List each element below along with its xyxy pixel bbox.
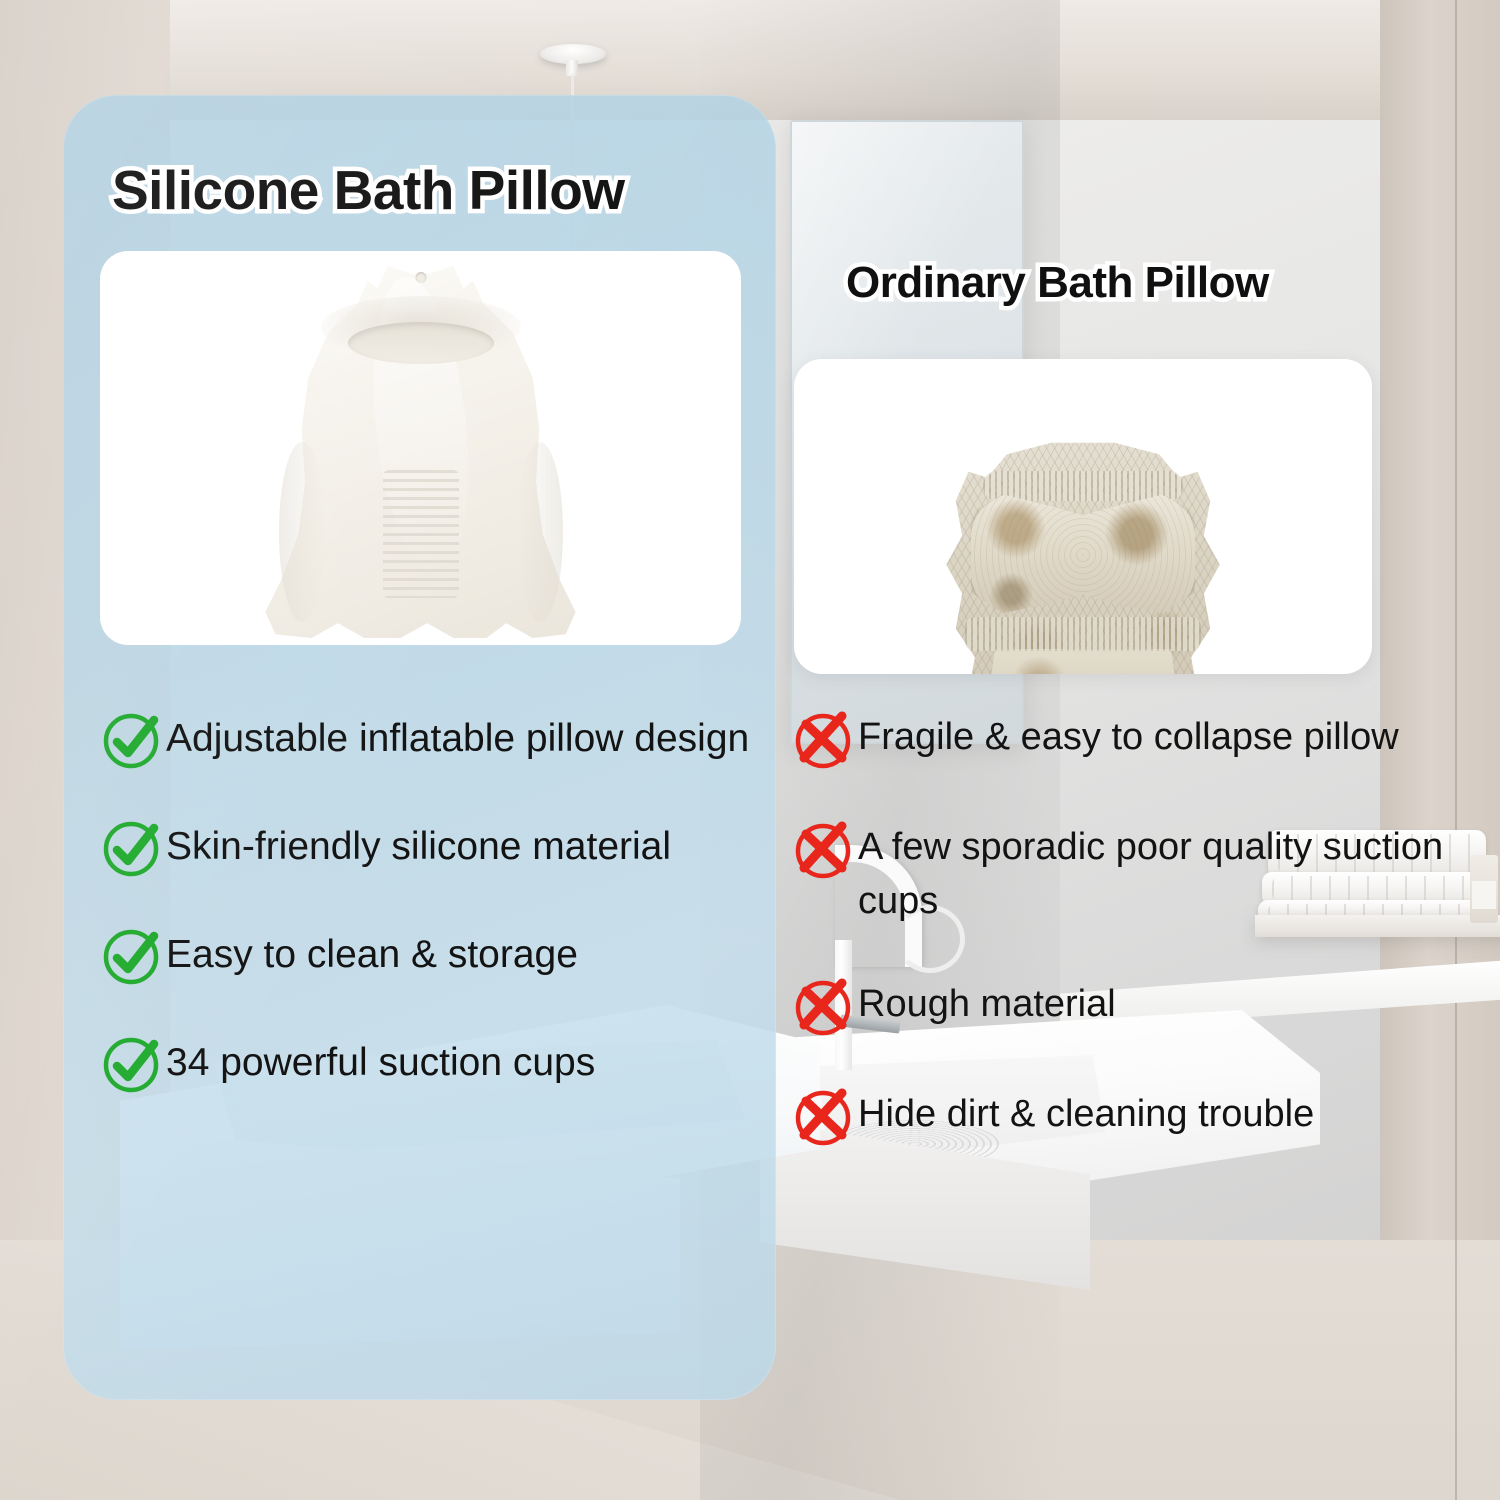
check-circle-icon — [100, 1034, 166, 1096]
list-item-label: Skin-friendly silicone material — [166, 818, 671, 874]
silicone-pillow-head-recess — [348, 322, 494, 364]
silicone-pillow-ribbed-strip — [383, 470, 459, 598]
cross-circle-icon — [792, 710, 858, 772]
list-item-label: Adjustable inflatable pillow design — [166, 710, 749, 766]
list-item: Adjustable inflatable pillow design — [100, 710, 780, 772]
list-item-label: Hide dirt & cleaning trouble — [858, 1087, 1314, 1142]
list-item: Hide dirt & cleaning trouble — [792, 1087, 1492, 1149]
check-circle-icon — [100, 710, 166, 772]
dirty-pillow-lower-band — [965, 617, 1201, 651]
list-item: Easy to clean & storage — [100, 926, 780, 988]
check-circle-icon — [100, 818, 166, 880]
right-column-title: Ordinary Bath Pillow — [846, 258, 1269, 308]
left-column-title: Silicone Bath Pillow — [112, 158, 625, 222]
list-item-label: Fragile & easy to collapse pillow — [858, 710, 1399, 765]
list-item: Skin-friendly silicone material — [100, 818, 780, 880]
silicone-pillow-hang-hole — [415, 272, 426, 283]
dirty-pillow-lower-section — [983, 649, 1183, 674]
list-item: Fragile & easy to collapse pillow — [792, 710, 1492, 772]
dirty-pillow-top-band — [983, 471, 1183, 501]
ordinary-pillow-image-card — [794, 359, 1372, 674]
list-item: A few sporadic poor quality suction cups — [792, 820, 1492, 929]
silicone-feature-list: Adjustable inflatable pillow design Skin… — [100, 710, 780, 1142]
list-item: 34 powerful suction cups — [100, 1034, 780, 1096]
silicone-pillow-illustration — [221, 252, 621, 644]
check-circle-icon — [100, 926, 166, 988]
silicone-pillow-left-shade — [279, 442, 325, 622]
list-item: Rough material — [792, 977, 1492, 1039]
list-item-label: Easy to clean & storage — [166, 926, 578, 982]
dirty-pillow-illustration — [918, 437, 1248, 674]
cross-circle-icon — [792, 1087, 858, 1149]
list-item-label: 34 powerful suction cups — [166, 1034, 595, 1090]
ordinary-drawback-list: Fragile & easy to collapse pillow A few … — [792, 710, 1492, 1197]
list-item-label: Rough material — [858, 977, 1116, 1032]
comparison-infographic: Silicone Bath Pillow Ordinary Bath Pillo… — [0, 0, 1500, 1500]
silicone-pillow-image-card — [100, 251, 741, 645]
cross-circle-icon — [792, 820, 858, 882]
silicone-pillow-right-shade — [517, 442, 563, 622]
list-item-label: A few sporadic poor quality suction cups — [858, 820, 1492, 929]
cross-circle-icon — [792, 977, 858, 1039]
